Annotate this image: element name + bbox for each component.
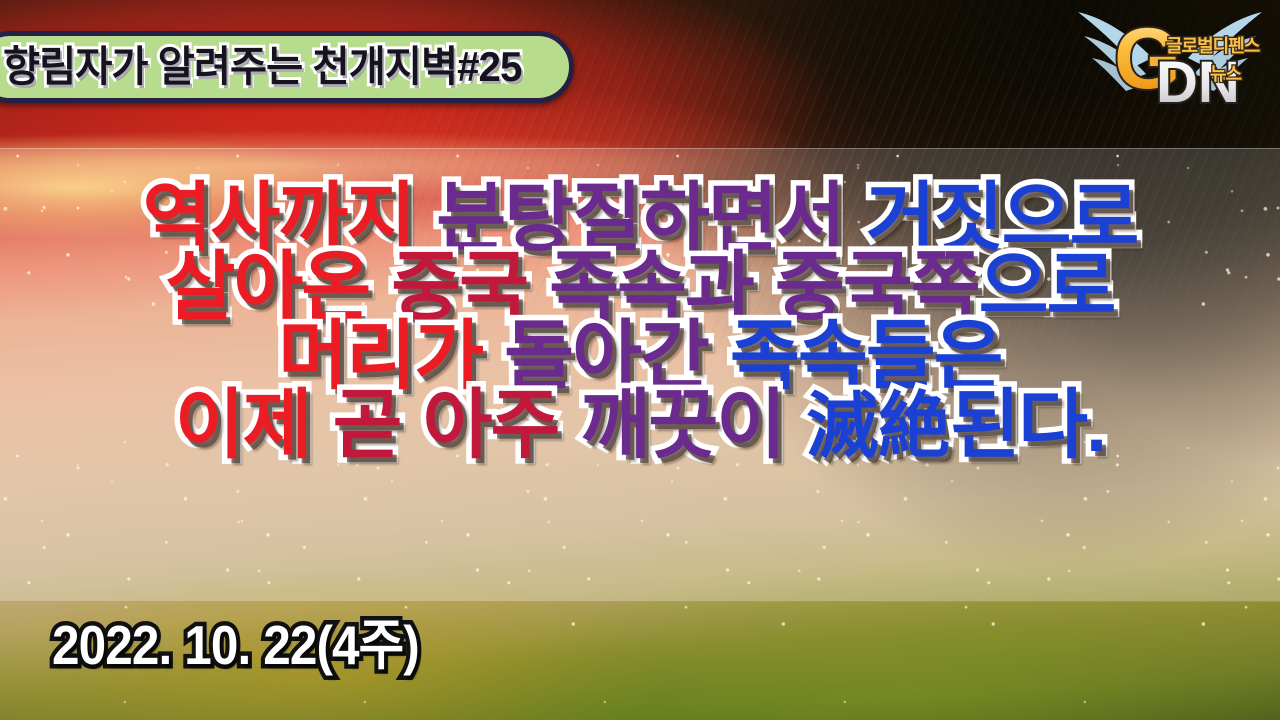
headline-segment: 아주 — [423, 390, 559, 463]
logo-korean-top: 글로벌디펜스 — [1166, 36, 1260, 56]
broadcast-date: 2022. 10. 22(4주) — [52, 618, 419, 673]
video-title-banner: 향림자가 알려주는 천개지벽#25 — [0, 31, 574, 103]
headline-segment-hanja: 滅絶 — [806, 391, 950, 460]
headline-block: 역사까지분탕질하면서거짓으로 살아온중국족속과중국쪽으로 머리가돌아간족속들은 … — [0, 183, 1280, 463]
headline-line-4: 이제곧아주깨끗이滅絶된다. — [0, 390, 1280, 463]
gdn-logo: G DN 글로벌디펜스 뉴스 — [1070, 0, 1270, 128]
logo-korean-news: 뉴스 — [1210, 64, 1242, 84]
headline-segment: 깨끗이 — [580, 390, 784, 463]
headline-segment: 이제 — [175, 390, 311, 463]
headline-segment: 된다. — [950, 390, 1105, 463]
video-thumbnail: 향림자가 알려주는 천개지벽#25 — [0, 0, 1280, 720]
headline-segment: 곧 — [333, 390, 401, 463]
video-title-text: 향림자가 알려주는 천개지벽#25 — [3, 46, 521, 88]
